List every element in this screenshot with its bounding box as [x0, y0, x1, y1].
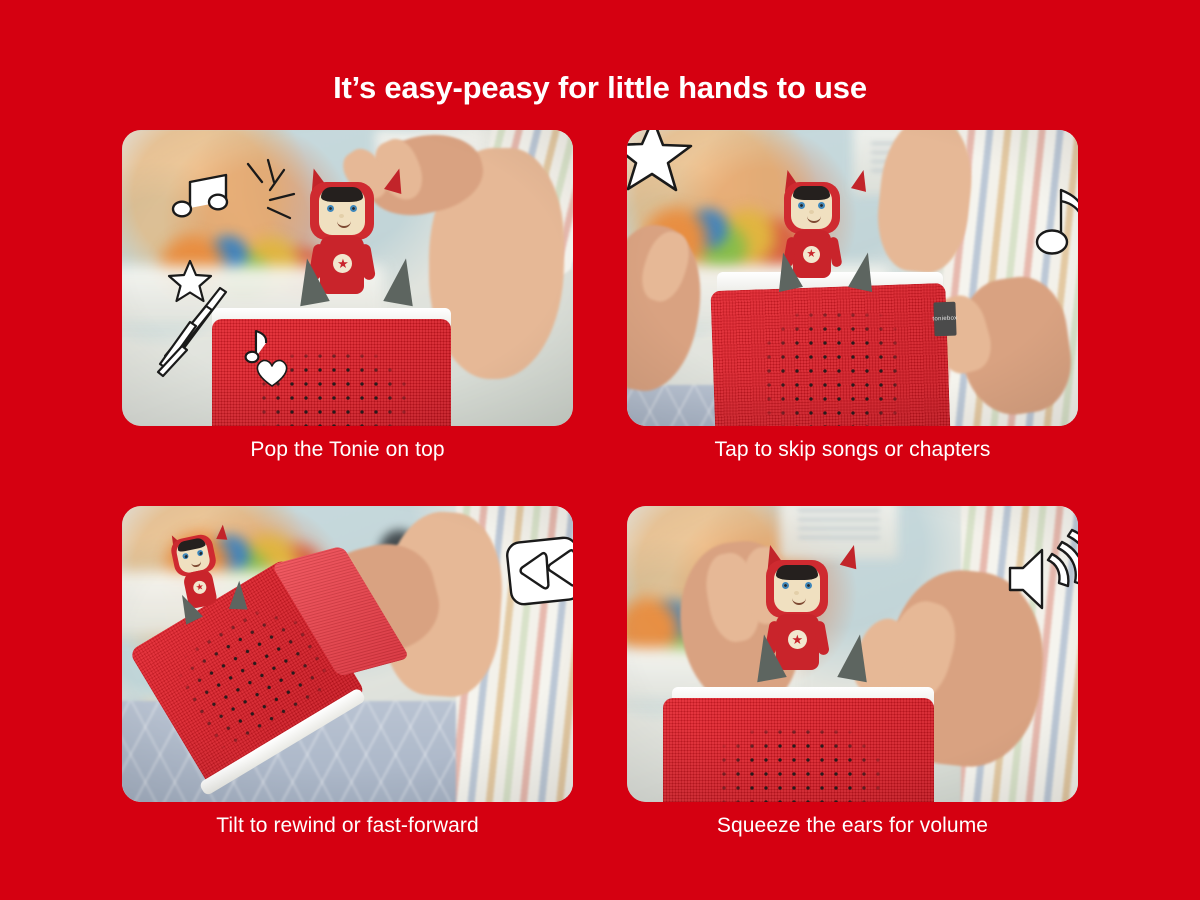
- photo-squeeze-the-ears-for-volume: ★: [627, 506, 1078, 802]
- page-title: It’s easy-peasy for little hands to use: [0, 68, 1200, 108]
- feature-card-tap-to-skip-songs-or-chapters[interactable]: toniebox: [627, 130, 1078, 426]
- feature-card-tilt-to-rewind-or-fast-forward[interactable]: ★ Tilt t: [122, 506, 573, 802]
- photo-vignette: [122, 130, 573, 426]
- feature-card-grid: ★: [122, 130, 1078, 865]
- photo-vignette: [627, 506, 1078, 802]
- scene-playroom: ★: [627, 506, 1078, 802]
- scene-playroom: toniebox: [627, 130, 1078, 426]
- scene-playroom: ★: [122, 130, 573, 426]
- promo-page: It’s easy-peasy for little hands to use: [0, 0, 1200, 900]
- caption-squeeze-the-ears-for-volume: Squeeze the ears for volume: [627, 812, 1078, 840]
- feature-card-pop-the-tonie-on-top[interactable]: ★: [122, 130, 573, 426]
- caption-pop-the-tonie-on-top: Pop the Tonie on top: [122, 436, 573, 464]
- caption-tilt-to-rewind-or-fast-forward: Tilt to rewind or fast-forward: [122, 812, 573, 840]
- photo-vignette: [627, 130, 1078, 426]
- photo-vignette: [122, 506, 573, 802]
- photo-tap-to-skip-songs-or-chapters: toniebox: [627, 130, 1078, 426]
- feature-card-squeeze-the-ears-for-volume[interactable]: ★: [627, 506, 1078, 802]
- photo-pop-the-tonie-on-top: ★: [122, 130, 573, 426]
- photo-tilt-to-rewind-or-fast-forward: ★: [122, 506, 573, 802]
- scene-bedroom: ★: [122, 506, 573, 802]
- caption-tap-to-skip-songs-or-chapters: Tap to skip songs or chapters: [627, 436, 1078, 464]
